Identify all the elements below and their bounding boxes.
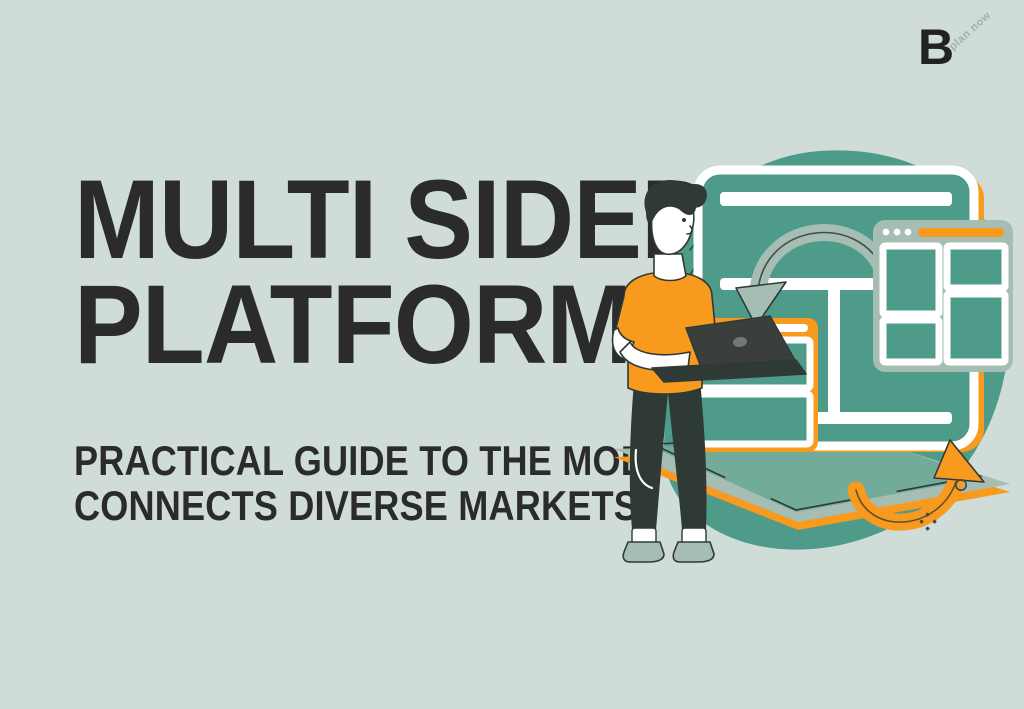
poster-canvas: B plan now MULTI SIDED PLATFORM PRACTICA…	[0, 0, 1024, 709]
logo-letter-b: B	[918, 22, 953, 72]
page-title: MULTI SIDED PLATFORM	[74, 168, 634, 376]
title-line-1: MULTI SIDED	[74, 168, 589, 271]
brand-logo: B plan now	[910, 22, 996, 80]
sage-browser-window	[873, 220, 1013, 372]
page-subtitle: PRACTICAL GUIDE TO THE MODEL THAT CONNEC…	[74, 438, 634, 529]
title-line-2: PLATFORM	[74, 273, 589, 376]
subtitle-line-2: CONNECTS DIVERSE MARKETS	[74, 483, 556, 528]
logo-tagline: plan now	[947, 9, 993, 52]
hero-illustration	[590, 130, 1024, 570]
subtitle-line-1: PRACTICAL GUIDE TO THE MODEL THAT	[74, 438, 556, 483]
